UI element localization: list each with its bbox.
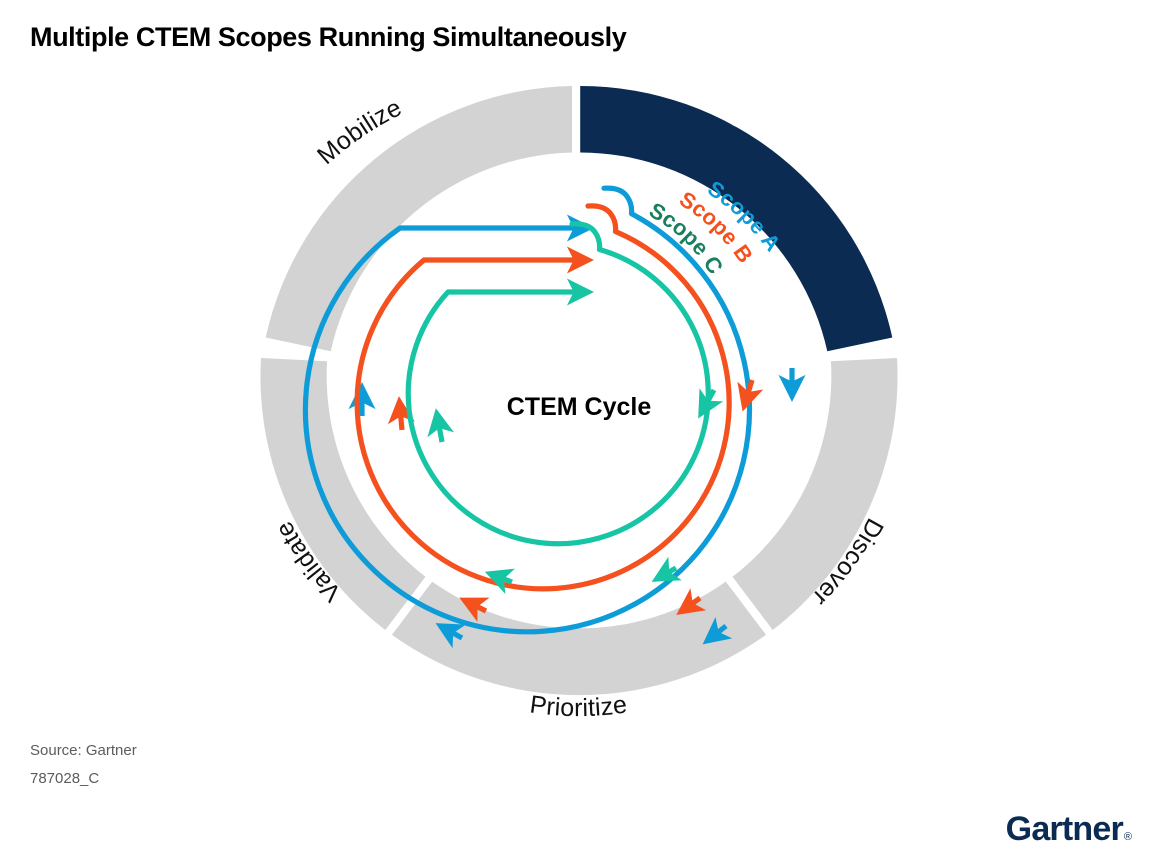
page-title: Multiple CTEM Scopes Running Simultaneou… [30,22,626,53]
gartner-wordmark: Gartner [1006,812,1123,846]
center-label: CTEM Cycle [507,393,652,421]
ring-segment-prioritize[interactable]: Prioritize [392,582,766,723]
ctem-diagram-svg: Scope Discover Prioritize Validate [0,60,1154,740]
figure-code: 787028_C [30,770,99,787]
scope-track-b-arrow-left [400,408,402,430]
scope-track-c-path [408,224,708,544]
source-note: Source: Gartner [30,742,137,759]
ctem-cycle-diagram: Scope Discover Prioritize Validate [0,60,1154,740]
ring-segment-prioritize-label: Prioritize [528,690,629,722]
scope-track-c-arrow-left [438,420,442,442]
ring-segment-mobilize[interactable]: Mobilize [266,86,572,351]
gartner-logo: Gartner ® [1006,812,1132,846]
ring-segment-discover[interactable]: Discover [733,358,898,630]
ring-segment-prioritize-shape [392,582,766,696]
scope-track-c[interactable]: Scope C [408,197,728,582]
registered-mark-icon: ® [1124,831,1132,843]
ring-segment-mobilize-shape [266,86,572,351]
